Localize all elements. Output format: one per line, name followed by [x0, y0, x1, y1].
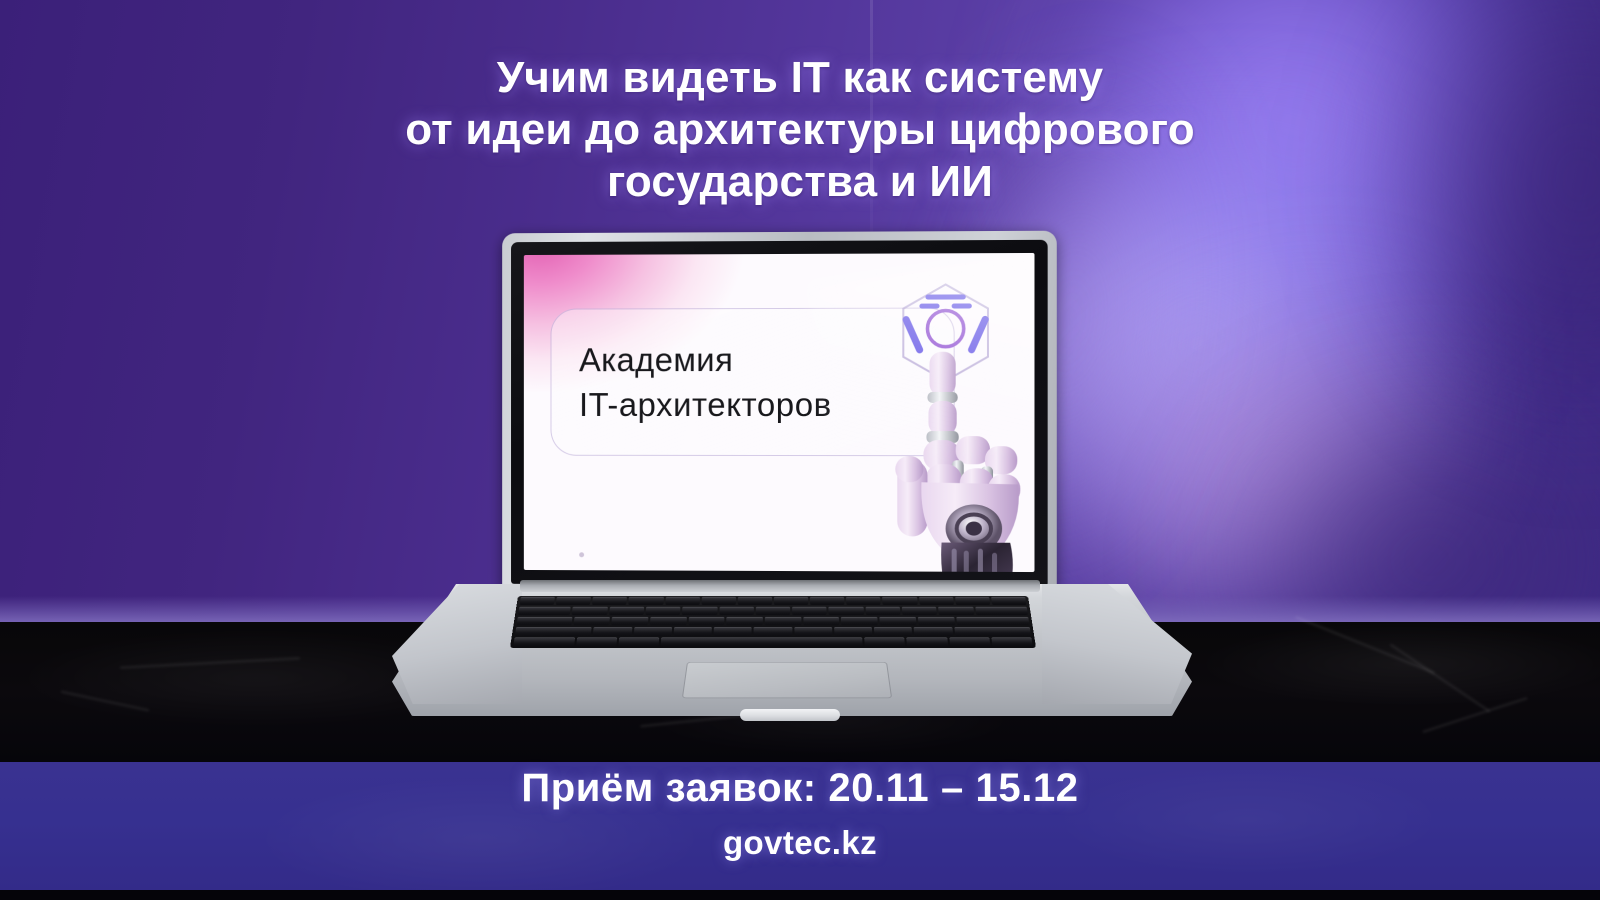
keyboard-key — [902, 607, 937, 615]
keyboard-key — [846, 597, 881, 605]
keyboard-row — [512, 626, 1035, 636]
keyboard-key — [914, 627, 953, 635]
keyboard-key — [865, 607, 900, 615]
keyboard-row — [515, 606, 1031, 616]
keyboard-key — [774, 597, 808, 605]
keyboard-key — [646, 607, 681, 615]
laptop-illustration: Академия IT-архитекторов — [392, 232, 1192, 732]
keyboard-key — [727, 617, 763, 625]
keyboard-key — [719, 607, 754, 615]
keyboard-key — [618, 637, 659, 646]
keyboard-key — [907, 637, 948, 646]
keyboard-key — [650, 617, 687, 625]
laptop-keyboard — [510, 596, 1036, 648]
keyboard-key — [864, 637, 905, 646]
keyboard-key — [576, 637, 617, 646]
keyboard-key — [572, 607, 608, 615]
texture-scratch — [61, 691, 149, 712]
keyboard-key — [803, 617, 839, 625]
keyboard-key — [792, 607, 827, 615]
keyboard-key — [513, 637, 575, 646]
keyboard-key — [517, 617, 573, 625]
keyboard-key — [975, 607, 1028, 615]
keyboard-key — [834, 627, 872, 635]
keyboard-key — [609, 607, 644, 615]
screen-dot — [579, 553, 584, 558]
keyboard-key — [611, 617, 648, 625]
keyboard-key — [955, 597, 990, 605]
texture-scratch — [1295, 616, 1435, 674]
keyboard-key — [593, 627, 632, 635]
website-url[interactable]: govtec.kz — [0, 824, 1600, 862]
keyboard-key — [949, 637, 990, 646]
keyboard-key — [765, 617, 801, 625]
laptop-lid: Академия IT-архитекторов — [502, 231, 1057, 594]
keyboard-key — [701, 597, 736, 605]
keyboard-row — [510, 637, 1036, 647]
laptop-deck-right-edge — [1042, 584, 1192, 704]
keyboard-key — [756, 607, 791, 615]
keyboard-key — [674, 627, 712, 635]
laptop-hinge — [520, 580, 1040, 592]
keyboard-key — [810, 597, 845, 605]
keyboard-key — [919, 597, 954, 605]
keyboard-key — [754, 627, 792, 635]
keyboard-key — [573, 617, 610, 625]
texture-scratch — [120, 657, 300, 668]
screen-title-line-1: Академия — [579, 337, 832, 382]
keyboard-key — [880, 617, 917, 625]
background-blob-shadow — [1210, 380, 1600, 622]
keyboard-key — [991, 597, 1026, 605]
robot-hand-image — [881, 352, 1032, 572]
keyboard-key — [882, 597, 917, 605]
screen-title-line-2: IT-архитекторов — [579, 382, 832, 427]
keyboard-key — [794, 627, 832, 635]
laptop-screen: Академия IT-архитекторов — [524, 253, 1035, 572]
keyboard-key — [874, 627, 913, 635]
laptop-bezel: Академия IT-архитекторов — [511, 240, 1048, 586]
keyboard-key — [629, 597, 664, 605]
laptop-front-latch — [740, 709, 840, 721]
keyboard-key — [688, 617, 725, 625]
keyboard-key — [938, 607, 974, 615]
keyboard-key — [738, 597, 772, 605]
promo-banner: Учим видеть IT как систему от идеи до ар… — [0, 0, 1600, 900]
keyboard-key — [829, 607, 864, 615]
screen-title-text: Академия IT-архитекторов — [579, 337, 832, 427]
keyboard-row — [513, 616, 1032, 626]
keyboard-key — [954, 627, 1031, 635]
keyboard-row — [516, 596, 1029, 606]
keyboard-key — [518, 607, 571, 615]
keyboard-spacebar — [661, 637, 863, 646]
keyboard-key — [918, 617, 955, 625]
keyboard-key — [841, 617, 878, 625]
keyboard-key — [665, 597, 700, 605]
keyboard-key — [714, 627, 752, 635]
laptop-deck-left-edge — [392, 584, 522, 704]
keyboard-key — [592, 597, 627, 605]
keyboard-key — [633, 627, 672, 635]
keyboard-key — [956, 617, 1030, 625]
background-blob-deep — [1380, 0, 1600, 420]
footer-strip — [0, 890, 1600, 900]
keyboard-key — [556, 597, 591, 605]
application-dates: Приём заявок: 20.11 – 15.12 — [0, 766, 1600, 811]
keyboard-key — [682, 607, 717, 615]
keyboard-key — [520, 597, 555, 605]
keyboard-key — [515, 627, 592, 635]
keyboard-key — [991, 637, 1033, 646]
texture-scratch — [1390, 644, 1491, 713]
laptop-trackpad — [682, 662, 892, 698]
